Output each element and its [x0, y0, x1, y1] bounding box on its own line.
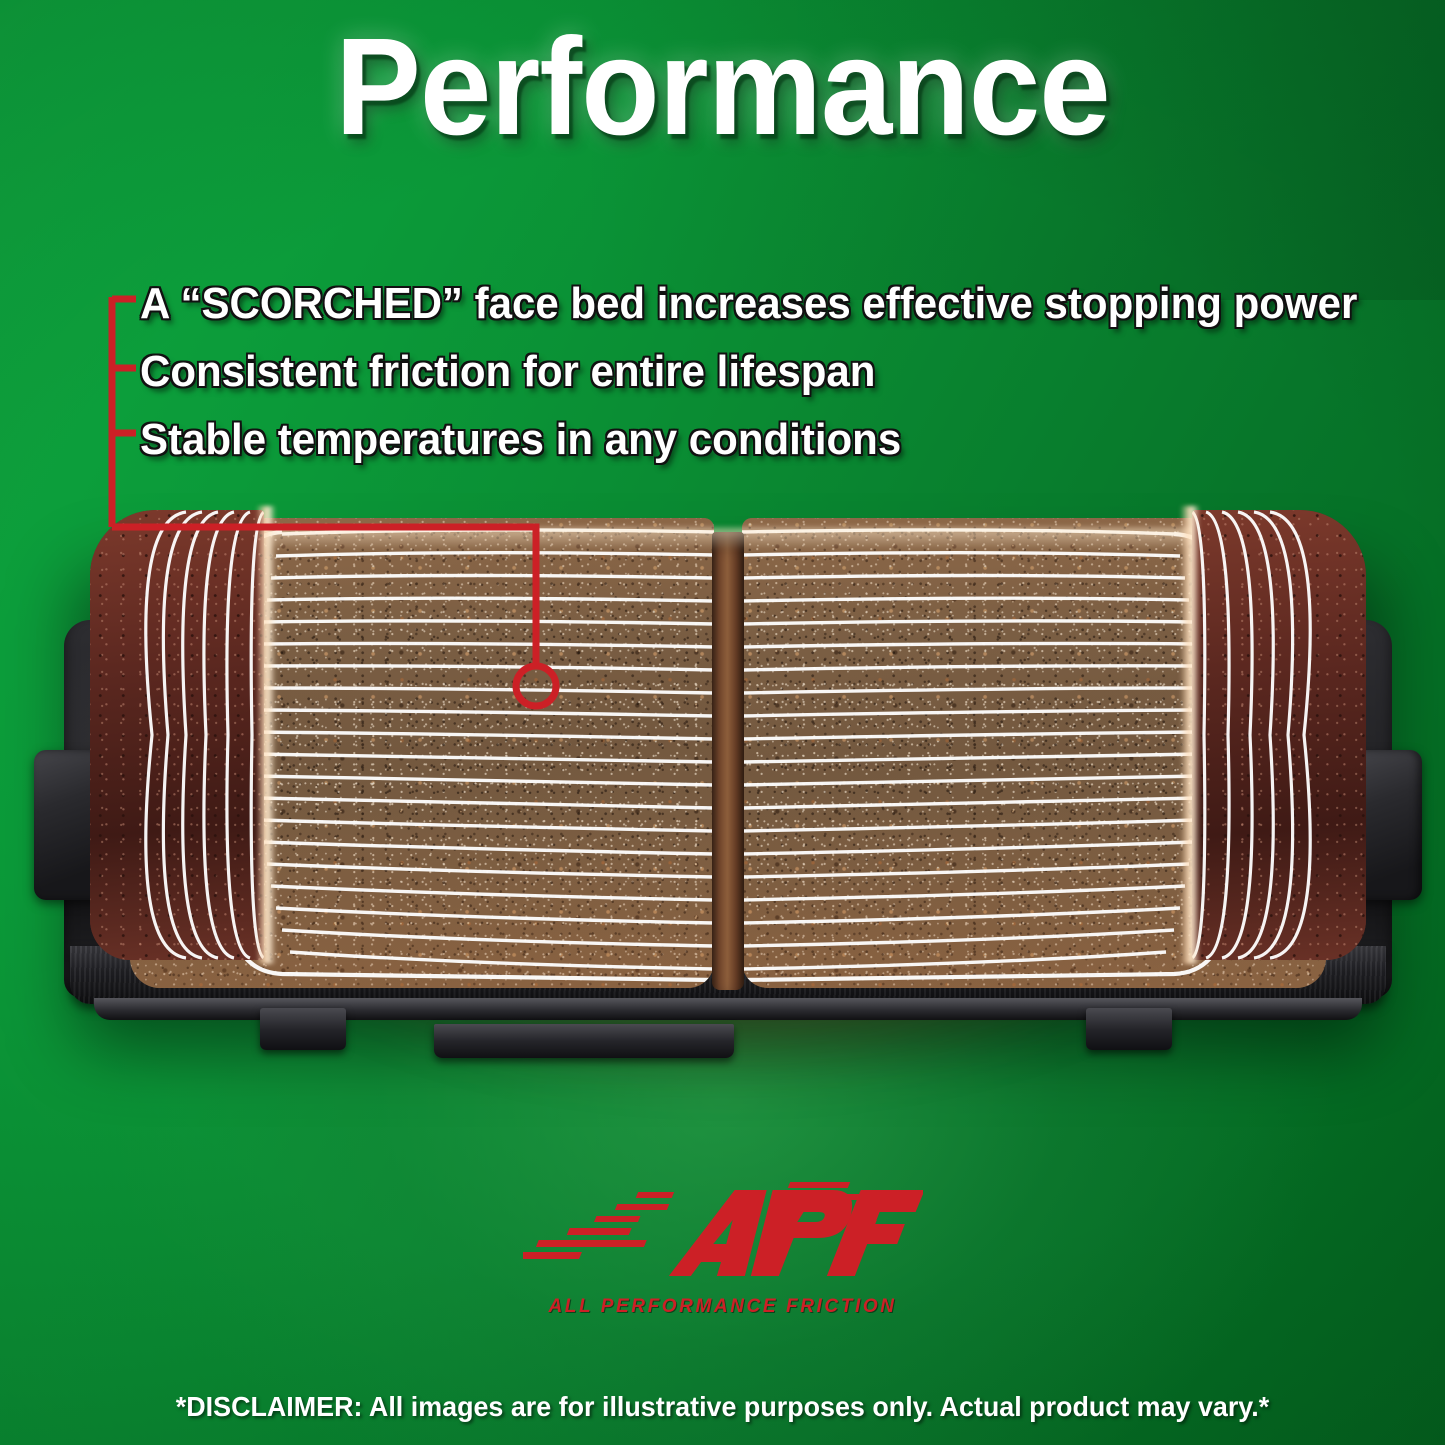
mounting-tab-right — [1086, 1008, 1172, 1050]
brake-pad-product-image — [34, 500, 1422, 1080]
product-marketing-banner: Performance A “SCORCHED” face bed increa… — [0, 0, 1445, 1445]
scorched-edge-right — [1192, 510, 1366, 960]
scorched-edge-left-lines — [90, 510, 264, 960]
apf-logo: ALL PERFORMANCE FRICTION — [0, 1180, 1445, 1318]
apf-logo-tagline: ALL PERFORMANCE FRICTION — [0, 1296, 1445, 1318]
scorch-boundary-glow-right — [1180, 506, 1200, 964]
page-title: Performance — [51, 18, 1395, 156]
mounting-tab-center — [434, 1024, 734, 1058]
mounting-tab-left — [260, 1008, 346, 1050]
center-slot — [712, 532, 744, 990]
feature-item-2: Consistent friction for entire lifespan — [140, 340, 1372, 404]
feature-list: A “SCORCHED” face bed increases effectiv… — [140, 272, 1430, 472]
friction-face-top-glow — [226, 528, 1230, 550]
disclaimer-text: *DISCLAIMER: All images are for illustra… — [29, 1391, 1416, 1423]
scorched-edge-left — [90, 510, 264, 960]
apf-logo-mark — [523, 1180, 923, 1285]
friction-face — [130, 518, 1326, 988]
scorch-boundary-glow-left — [256, 506, 276, 964]
feature-item-3: Stable temperatures in any conditions — [140, 408, 1372, 472]
scorched-edge-right-lines — [1192, 510, 1366, 960]
feature-item-1: A “SCORCHED” face bed increases effectiv… — [140, 272, 1372, 336]
